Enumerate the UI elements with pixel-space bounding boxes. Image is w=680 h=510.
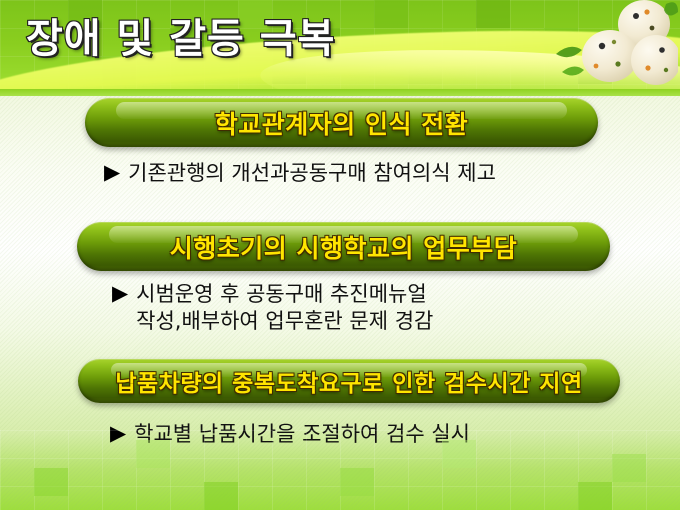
bullet-triangle-icon: ▶ — [112, 281, 128, 305]
bullet-text-3: 학교별 납품시간을 조절하여 검수 실시 — [134, 421, 470, 448]
rice-balls-icon — [548, 0, 678, 96]
section-heading-text-2: 시행초기의 시행학교의 업무부담 — [170, 229, 517, 265]
bullet-item-1: ▶ 기존관행의 개선과공동구매 참여의식 제고 — [104, 160, 496, 187]
mosaic-block — [340, 468, 374, 496]
section-heading-pill-1[interactable]: 학교관계자의 인식 전환 — [85, 98, 598, 147]
presentation-slide: 장애 및 갈등 극복 — [0, 0, 680, 510]
header-bottom-edge — [0, 89, 680, 96]
mosaic-block — [136, 440, 170, 468]
mosaic-block — [204, 482, 238, 510]
mosaic-block — [374, 0, 408, 28]
mosaic-block — [578, 482, 612, 510]
section-heading-text-1: 학교관계자의 인식 전환 — [215, 105, 468, 141]
bullet-text-2: 시범운영 후 공동구매 추진메뉴얼 작성,배부하여 업무혼란 문제 경감 — [136, 281, 433, 335]
slide-header: 장애 및 갈등 극복 — [0, 0, 680, 96]
bullet-triangle-icon: ▶ — [110, 421, 126, 445]
bullet-item-2: ▶ 시범운영 후 공동구매 추진메뉴얼 작성,배부하여 업무혼란 문제 경감 — [112, 281, 433, 335]
mosaic-block — [34, 468, 68, 496]
mosaic-block — [442, 440, 476, 468]
bullet-text-1: 기존관행의 개선과공동구매 참여의식 제고 — [128, 160, 496, 187]
section-heading-text-3: 납품차량의 중복도착요구로 인한 검수시간 지연 — [115, 364, 582, 398]
bullet-triangle-icon: ▶ — [104, 160, 120, 184]
mosaic-block — [476, 0, 510, 28]
section-heading-pill-2[interactable]: 시행초기의 시행학교의 업무부담 — [77, 222, 610, 271]
mosaic-block — [612, 454, 646, 482]
section-heading-pill-3[interactable]: 납품차량의 중복도착요구로 인한 검수시간 지연 — [78, 359, 620, 403]
page-title: 장애 및 갈등 극복 — [26, 6, 335, 64]
